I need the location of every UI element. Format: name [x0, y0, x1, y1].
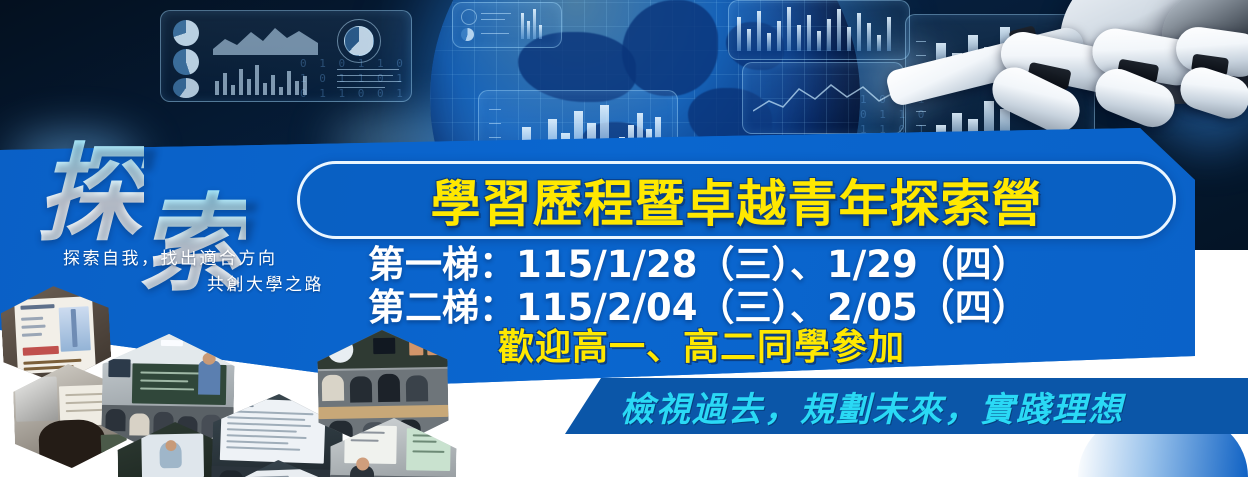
event-title-pill: 學習歷程暨卓越青年探索營: [297, 161, 1176, 239]
slogan-bar: 檢視過去，規劃未來，實踐理想: [565, 378, 1248, 434]
candle: [827, 19, 831, 51]
mini-bar: [533, 9, 536, 39]
event-title: 學習歷程暨卓越青年探索營: [431, 164, 1043, 236]
hud-text-line: [337, 87, 385, 88]
candle: [787, 7, 791, 51]
axis-line: [489, 123, 501, 124]
slogan-text: 檢視過去，規劃未來，實踐理想: [620, 382, 1124, 431]
candle: [807, 15, 811, 51]
hud-text-line: [337, 75, 393, 76]
pie-icon: [173, 20, 199, 46]
mini-bar: [521, 13, 524, 39]
candle: [797, 25, 801, 51]
candle: [837, 9, 841, 51]
axis-line: [489, 109, 501, 110]
candle: [857, 13, 861, 51]
hud-text-line: [481, 13, 511, 14]
candle: [777, 21, 781, 51]
promo-banner: 0 1 0 1 1 0 1 0 1 1 0 1 0 1 1 0 0 1 1 0 …: [0, 0, 1248, 477]
candle: [737, 17, 741, 51]
hud-dashboard-panel: [160, 10, 412, 102]
candle: [847, 27, 851, 51]
hud-icon-panel: [452, 2, 562, 48]
pie-icon: [173, 49, 199, 75]
hud-text-line: [481, 19, 505, 20]
brand-character-1: 探: [36, 108, 144, 262]
bar-chart-thumb: [213, 61, 318, 95]
candle: [747, 29, 751, 51]
candle: [817, 31, 821, 51]
mini-bar: [539, 25, 542, 39]
hud-text-line: [481, 33, 509, 34]
mini-bar: [527, 21, 530, 39]
candle: [757, 11, 761, 51]
gauge-icon: [461, 9, 477, 25]
donut-chart-thumb: [344, 26, 374, 56]
pie-icon: [461, 28, 474, 41]
line-chart-thumb: [753, 71, 893, 123]
audience-notice: 歡迎高一、高二同學參加: [498, 318, 905, 370]
hud-text-line: [337, 81, 401, 82]
photo-collage: [0, 282, 500, 477]
continent-shape: [622, 0, 718, 96]
candle: [867, 23, 871, 51]
pie-icon: [173, 78, 199, 98]
candle: [767, 33, 771, 51]
axis-line: [489, 137, 501, 138]
tagline-line-1: 探索自我，找出適合方向: [63, 244, 278, 269]
area-chart-thumb: [213, 19, 318, 55]
hud-text-line: [337, 69, 399, 70]
